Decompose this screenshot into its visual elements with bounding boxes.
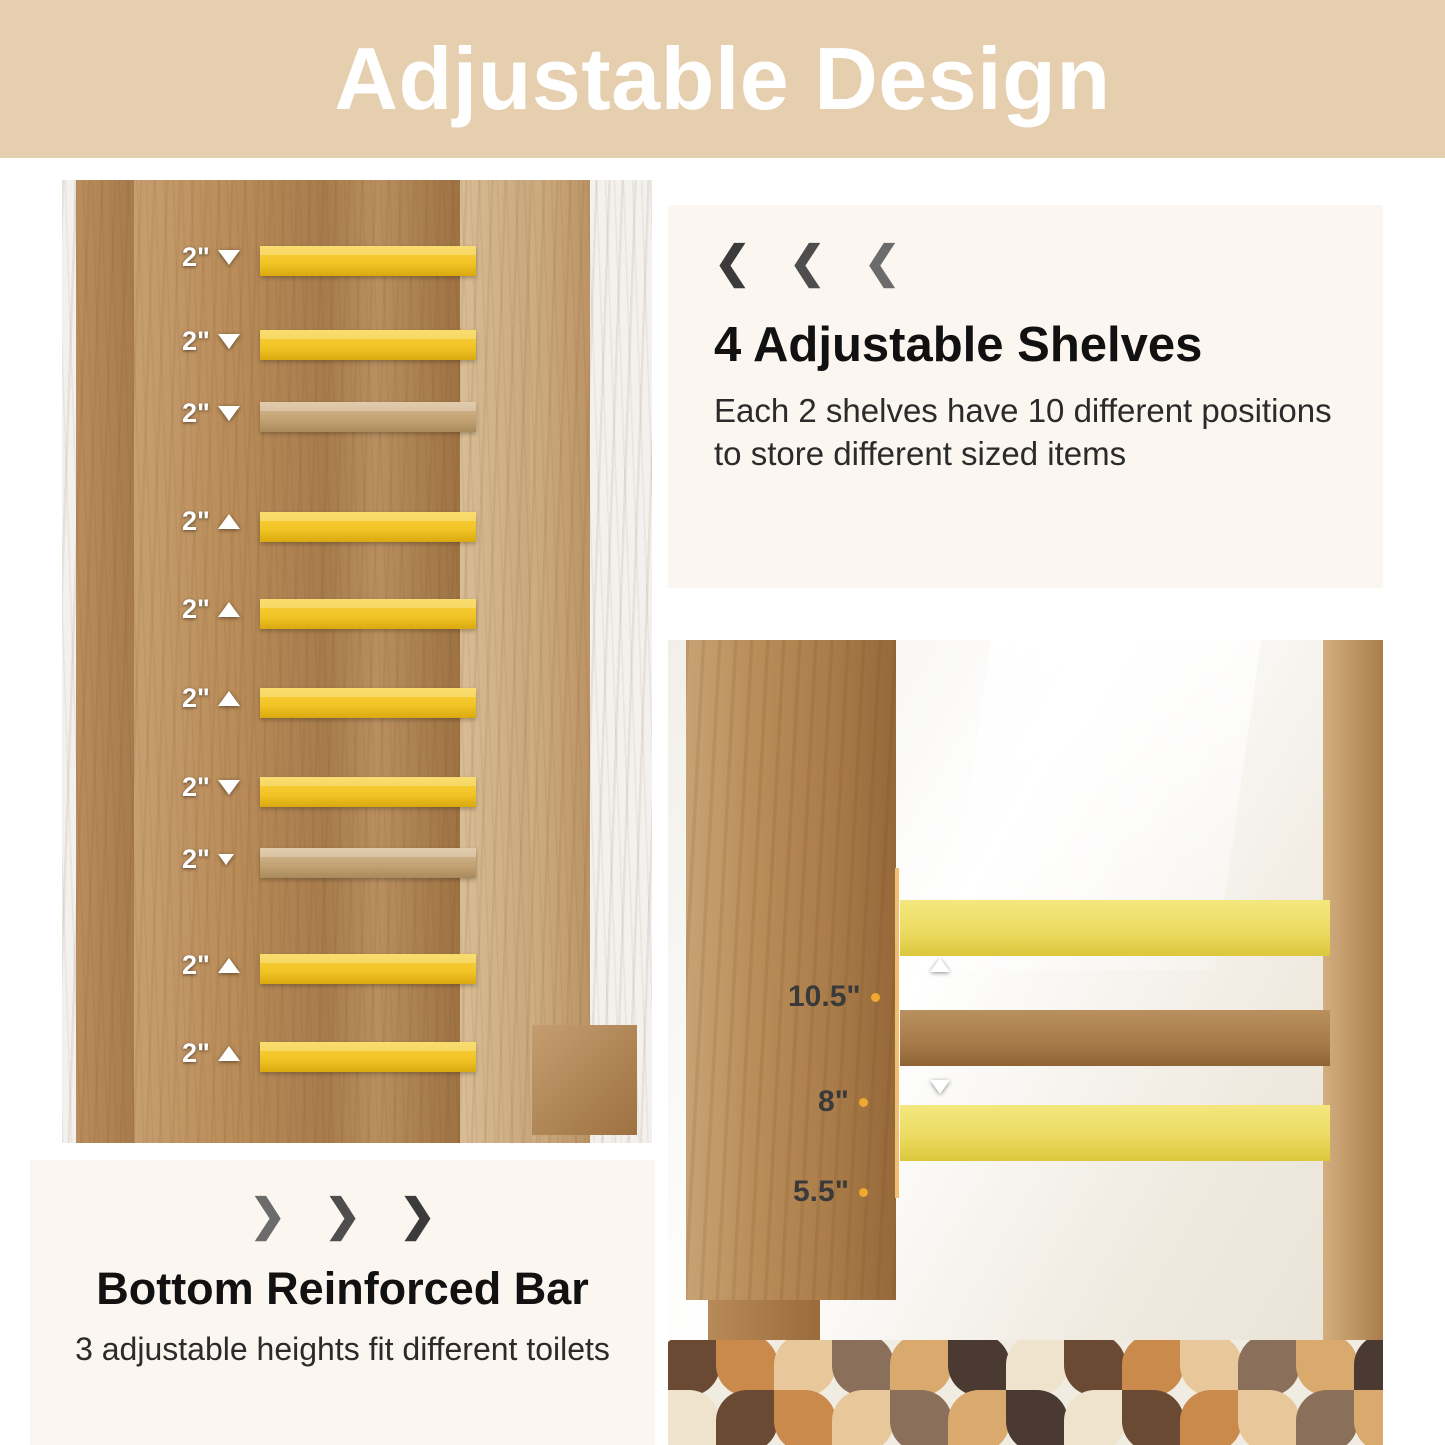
floor-tile [1296,1390,1358,1445]
page-title: Adjustable Design [334,35,1110,123]
shelf-slot-2 [260,330,476,360]
measure-label-5-5: 5.5" [793,1175,868,1209]
bar-installed [900,1010,1330,1066]
measure-dot-icon [871,993,880,1002]
bar-position-high [900,900,1330,956]
floor-tile [832,1390,894,1445]
floor-tile [668,1340,720,1396]
measure-label-3: 2" [182,398,240,429]
measure-text: 2" [182,772,210,803]
card-subtitle-shelves: Each 2 shelves have 10 different positio… [714,389,1337,476]
floor-tile [890,1340,952,1396]
shelf-slot-5 [260,688,476,718]
chevron-right-icon: ❯ [249,1194,286,1238]
shelf-slot-1 [260,246,476,276]
reinforced-bar-photo: 10.5" 8" 5.5" [668,640,1383,1445]
measure-text: 2" [182,1038,210,1069]
floor-tile [668,1390,720,1445]
floor-tile [890,1390,952,1445]
shelf-slot-6 [260,777,476,807]
floor-tile [1238,1390,1300,1445]
measure-label-8: 2" [182,844,234,875]
arrow-up-icon [218,958,240,973]
measure-text: 2" [182,950,210,981]
measure-text: 2" [182,683,210,714]
floor-tile [832,1340,894,1396]
floor-tile [1180,1390,1242,1445]
card-subtitle-bar: 3 adjustable heights fit different toile… [30,1330,655,1368]
arrow-down-icon [218,334,240,349]
arrow-up-icon [218,1046,240,1061]
measure-label-7: 2" [182,772,240,803]
floor-tile [716,1340,778,1396]
arrow-up-icon [218,514,240,529]
shelf-slot-4 [260,599,476,629]
card-title-shelves: 4 Adjustable Shelves [714,319,1337,373]
measure-label-4: 2" [182,506,240,537]
tiled-floor [668,1340,1383,1445]
measure-label-5: 2" [182,594,240,625]
floor-tile [948,1340,1010,1396]
arrow-up-icon [218,602,240,617]
measure-text: 2" [182,844,210,875]
chevron-left-icon: ❮ [789,241,826,285]
measure-label-2: 2" [182,326,240,357]
measure-text: 2" [182,326,210,357]
measure-label-9: 2" [182,950,240,981]
measure-text: 2" [182,398,210,429]
cabinet-right-post [1323,640,1383,1355]
chevron-left-icon: ❮ [864,241,901,285]
measure-dot-icon [859,1188,868,1197]
floor-tile [716,1390,778,1445]
arrow-down-icon [218,250,240,265]
measure-text: 10.5" [788,980,861,1014]
measure-label-1: 2" [182,242,240,273]
chevron-row-left: ❮ ❮ ❮ [714,241,1337,285]
shelf-adjustment-photo: 2" 2" 2" 2" 2" 2" 2" 2" [62,180,652,1143]
card-reinforced-bar: ❯ ❯ ❯ Bottom Reinforced Bar 3 adjustable… [30,1160,655,1445]
bar-position-low [900,1105,1330,1161]
measure-label-10: 2" [182,1038,240,1069]
shelf-installed-lower [260,848,476,878]
infographic-page: Adjustable Design 2" 2" 2 [0,0,1445,1445]
floor-tile [1180,1340,1242,1396]
card-title-bar: Bottom Reinforced Bar [30,1264,655,1314]
floor-tile [1006,1340,1068,1396]
header-banner: Adjustable Design [0,0,1445,158]
floor-tile [1064,1340,1126,1396]
floor-tile [1354,1340,1383,1396]
floor-tile [1006,1390,1068,1445]
shelf-slot-3 [260,512,476,542]
floor-tile [1122,1340,1184,1396]
wood-grain-texture [62,180,652,1143]
shelf-slot-8 [260,1042,476,1072]
chevron-row-right: ❯ ❯ ❯ [30,1194,655,1238]
measure-label-10-5: 10.5" [788,980,880,1014]
floor-tile [1354,1390,1383,1445]
measure-dot-icon [859,1098,868,1107]
shelf-installed-upper [260,402,476,432]
floor-tile [1122,1390,1184,1445]
floor-tile [1064,1390,1126,1445]
chevron-right-icon: ❯ [399,1194,436,1238]
chevron-right-icon: ❯ [324,1194,361,1238]
arrow-up-icon [218,691,240,706]
floor-tile [1296,1340,1358,1396]
floor-tile [774,1390,836,1445]
measure-text: 2" [182,594,210,625]
shelf-slot-7 [260,954,476,984]
measurement-guideline [895,868,899,1198]
toilet-tank-corner [532,1025,637,1135]
measure-label-6: 2" [182,683,240,714]
arrow-up-icon [930,958,950,972]
floor-tile [774,1340,836,1396]
arrow-down-icon [218,854,234,865]
card-adjustable-shelves: ❮ ❮ ❮ 4 Adjustable Shelves Each 2 shelve… [668,205,1383,588]
arrow-down-icon [218,780,240,795]
measure-text: 5.5" [793,1175,849,1209]
measure-text: 2" [182,506,210,537]
arrow-down-icon [930,1080,950,1094]
floor-tile [1238,1340,1300,1396]
measure-label-8: 8" [818,1085,868,1119]
chevron-left-icon: ❮ [714,241,751,285]
floor-tile [948,1390,1010,1445]
measure-text: 8" [818,1085,849,1119]
arrow-down-icon [218,406,240,421]
measure-text: 2" [182,242,210,273]
